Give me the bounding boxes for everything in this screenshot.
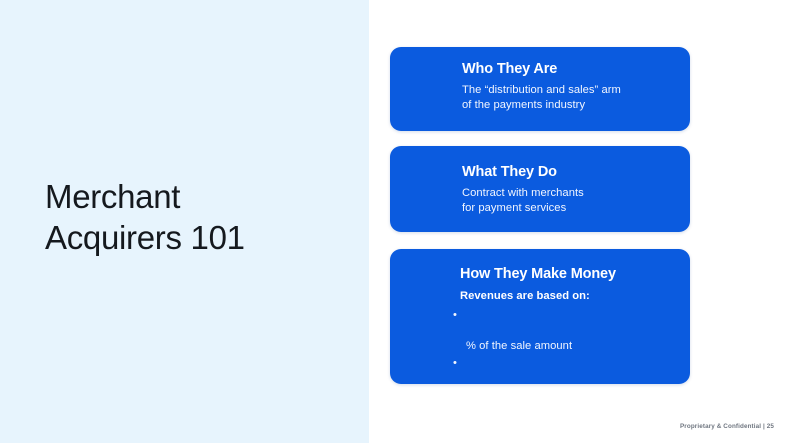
list-item: • Fixed fee per transaction [450, 356, 672, 385]
card-what-they-do: What They Do Contract with merchants for… [390, 146, 690, 232]
card-column: Who They Are The “distribution and sales… [390, 47, 690, 384]
bullet-icon: • [453, 356, 457, 372]
card-how-they-make-money-subhead: Revenues are based on: [460, 289, 672, 304]
card-how-they-make-money-heading: How They Make Money [460, 265, 672, 284]
slide-canvas: Merchant Acquirers 101 Who They Are The … [0, 0, 790, 443]
list-item: • % of the sale amount [450, 308, 672, 355]
card-who-they-are-heading: Who They Are [462, 60, 670, 79]
card-what-they-do-heading: What They Do [462, 163, 670, 182]
list-item-label: % of the sale amount [466, 340, 572, 352]
revenue-bullet-list: • % of the sale amount • Fixed fee per t… [450, 308, 672, 384]
card-what-they-do-body: Contract with merchants for payment serv… [462, 186, 670, 216]
card-how-they-make-money: How They Make Money Revenues are based o… [390, 249, 690, 384]
bullet-icon: • [453, 308, 457, 324]
footer-confidentiality-note: Proprietary & Confidential | 25 [680, 423, 774, 430]
card-who-they-are: Who They Are The “distribution and sales… [390, 47, 690, 131]
card-who-they-are-body: The “distribution and sales” arm of the … [462, 83, 670, 113]
page-title: Merchant Acquirers 101 [45, 176, 345, 258]
